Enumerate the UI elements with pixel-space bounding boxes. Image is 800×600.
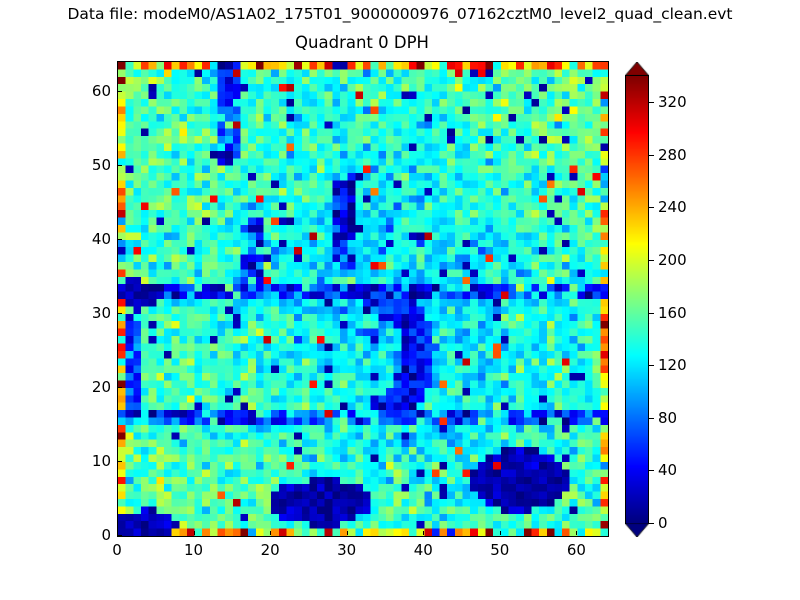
colorbar-tick-label: 320 — [658, 93, 687, 111]
y-tick-label: 60 — [75, 82, 111, 100]
colorbar-extend-bottom-arrow — [625, 523, 649, 537]
x-tick-label: 20 — [261, 541, 280, 559]
x-tick-label: 30 — [337, 541, 356, 559]
figure-canvas: Data file: modeM0/AS1A02_175T01_90000009… — [0, 0, 800, 600]
x-tick-mark — [270, 531, 271, 535]
x-tick-label: 50 — [490, 541, 509, 559]
y-tick-label: 10 — [75, 452, 111, 470]
data-file-title: Data file: modeM0/AS1A02_175T01_90000009… — [0, 5, 800, 23]
colorbar-tick-label: 80 — [658, 409, 677, 427]
colorbar-tick-mark — [649, 260, 654, 261]
colorbar-tick-label: 240 — [658, 198, 687, 216]
y-tick-mark — [118, 165, 122, 166]
y-tick-mark — [118, 91, 122, 92]
x-tick-mark — [347, 531, 348, 535]
x-tick-label: 10 — [184, 541, 203, 559]
y-tick-mark — [118, 313, 122, 314]
x-tick-mark — [194, 531, 195, 535]
colorbar-tick-mark — [649, 523, 654, 524]
colorbar-tick-mark — [649, 155, 654, 156]
y-tick-label: 30 — [75, 304, 111, 322]
x-tick-mark — [500, 531, 501, 535]
colorbar-tick-label: 200 — [658, 251, 687, 269]
colorbar-frame — [625, 75, 649, 524]
x-tick-label: 60 — [567, 541, 586, 559]
colorbar-tick-mark — [649, 313, 654, 314]
x-tick-mark — [576, 531, 577, 535]
colorbar-tick-label: 120 — [658, 356, 687, 374]
plot-title: Quadrant 0 DPH — [117, 33, 607, 52]
colorbar-extend-top-arrow — [625, 62, 649, 76]
y-tick-mark — [118, 535, 122, 536]
x-tick-mark — [423, 531, 424, 535]
colorbar-tick-label: 0 — [658, 514, 668, 532]
colorbar-tick-mark — [649, 207, 654, 208]
y-tick-mark — [118, 461, 122, 462]
x-tick-label: 40 — [414, 541, 433, 559]
colorbar-tick-label: 280 — [658, 146, 687, 164]
colorbar-tick-mark — [649, 102, 654, 103]
colorbar-tick-mark — [649, 365, 654, 366]
colorbar: 04080120160200240280320 — [625, 62, 649, 537]
y-tick-label: 20 — [75, 378, 111, 396]
heatmap-axes — [117, 61, 609, 537]
y-tick-label: 50 — [75, 156, 111, 174]
y-tick-label: 40 — [75, 230, 111, 248]
y-tick-label: 0 — [75, 526, 111, 544]
colorbar-tick-label: 160 — [658, 304, 687, 322]
y-tick-mark — [118, 387, 122, 388]
colorbar-tick-label: 40 — [658, 461, 677, 479]
y-tick-mark — [118, 239, 122, 240]
detector-heatmap-image — [118, 62, 608, 536]
colorbar-tick-mark — [649, 418, 654, 419]
colorbar-tick-mark — [649, 470, 654, 471]
x-tick-label: 0 — [112, 541, 122, 559]
